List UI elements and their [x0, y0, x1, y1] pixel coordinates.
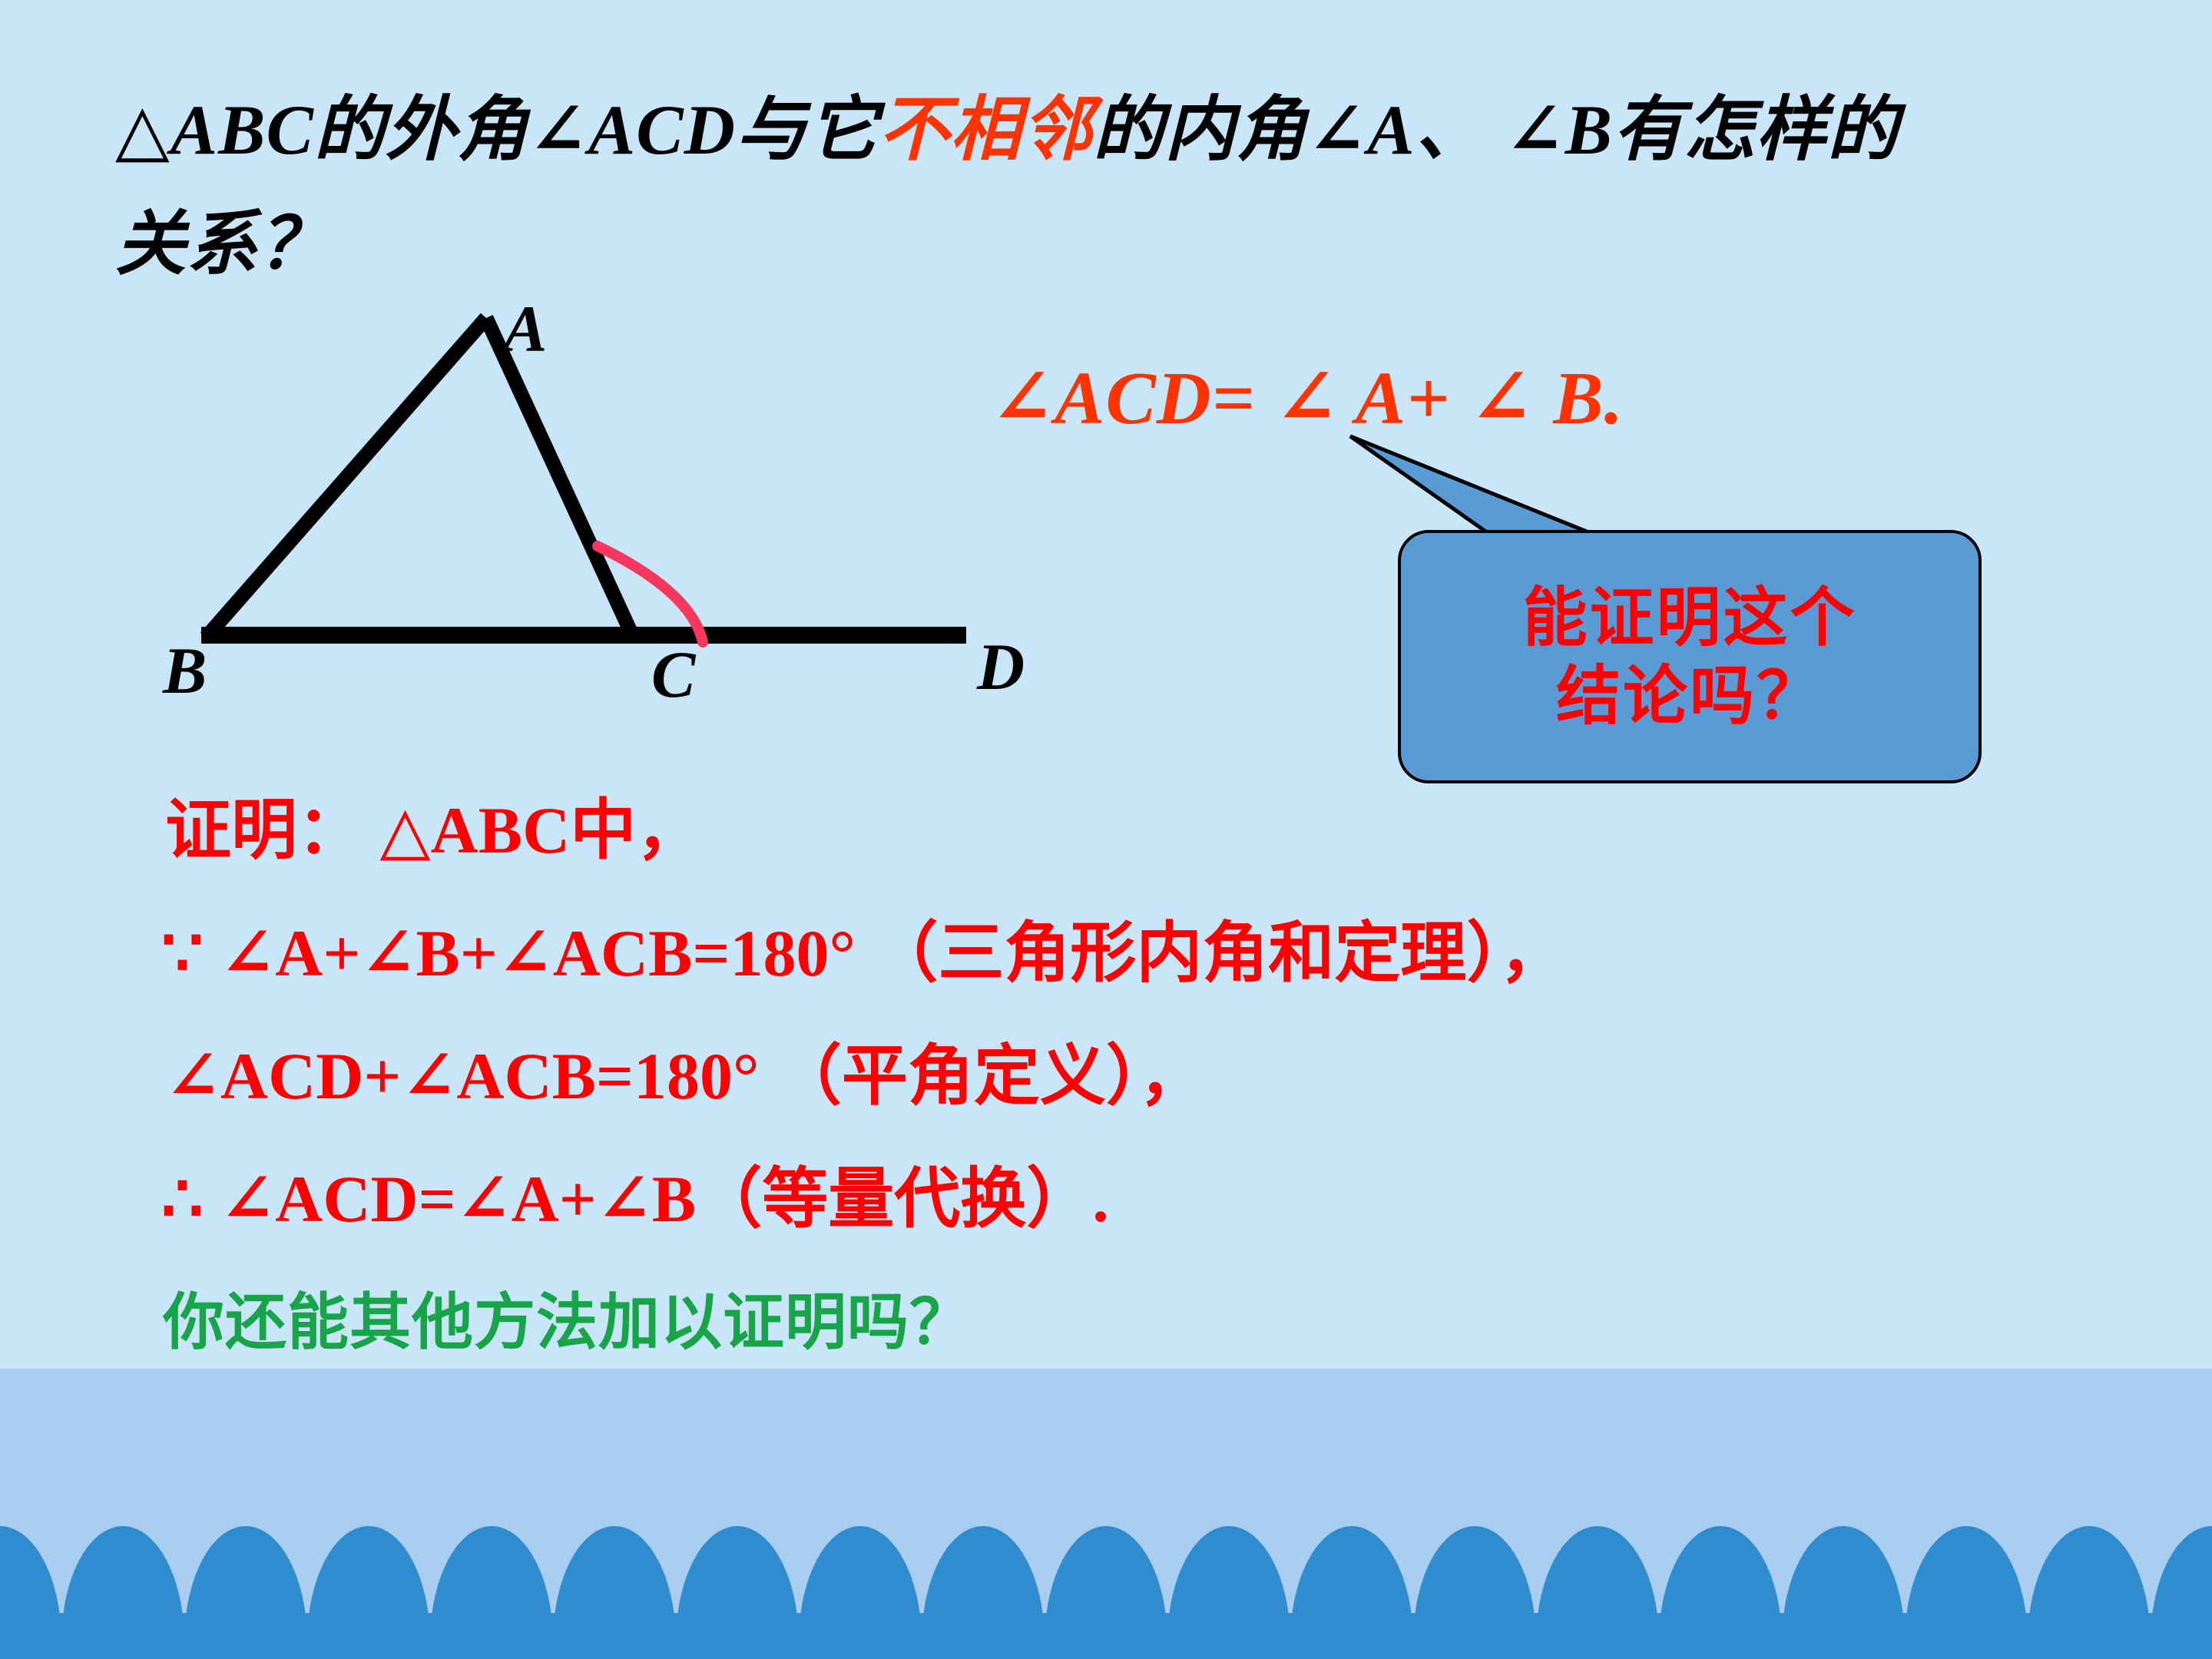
proof-line-3: ∠ACD+∠ACB=180° （平角定义），: [165, 1043, 1205, 1109]
proof-line-1: 证明： △ABC中，: [165, 797, 702, 863]
proof-line-4: ∴ ∠ACD=∠A+∠B（等量代换）.: [161, 1166, 1109, 1232]
proof-line-2: ∵ ∠A+∠B+∠ACB=180° （三角形内角和定理），: [161, 920, 1565, 986]
question-part-1: △ABC的外角∠ACD与它: [115, 91, 879, 169]
followup-question: 你还能其他方法加以证明吗？: [163, 1292, 972, 1353]
footer-decoration: [0, 1369, 2212, 1659]
segment-ac: [486, 318, 634, 640]
question-part-2: 的内角∠A、 ∠B有怎样的: [1093, 91, 1899, 169]
vertex-label-a: A: [503, 296, 547, 362]
vertex-label-d: D: [977, 634, 1025, 700]
callout-box: 能证明这个 结论吗？: [1398, 530, 1982, 783]
triangle-figure: A B C D: [0, 253, 1114, 776]
callout-line-2: 结论吗？: [1556, 657, 1823, 735]
callout-bubble: 能证明这个 结论吗？: [1398, 530, 1982, 783]
question-highlight: 不相邻: [879, 91, 1093, 169]
footer-domes-icon: [0, 1369, 2212, 1659]
segment-ba: [206, 318, 486, 637]
callout-line-1: 能证明这个: [1522, 578, 1856, 657]
conclusion-formula: ∠ACD= ∠ A+ ∠ B.: [991, 353, 1624, 442]
slide-canvas: △ABC的外角∠ACD与它不相邻的内角∠A、 ∠B有怎样的 关系？ A B C …: [0, 0, 2212, 1659]
vertex-label-b: B: [163, 637, 207, 704]
vertex-label-c: C: [651, 641, 695, 707]
